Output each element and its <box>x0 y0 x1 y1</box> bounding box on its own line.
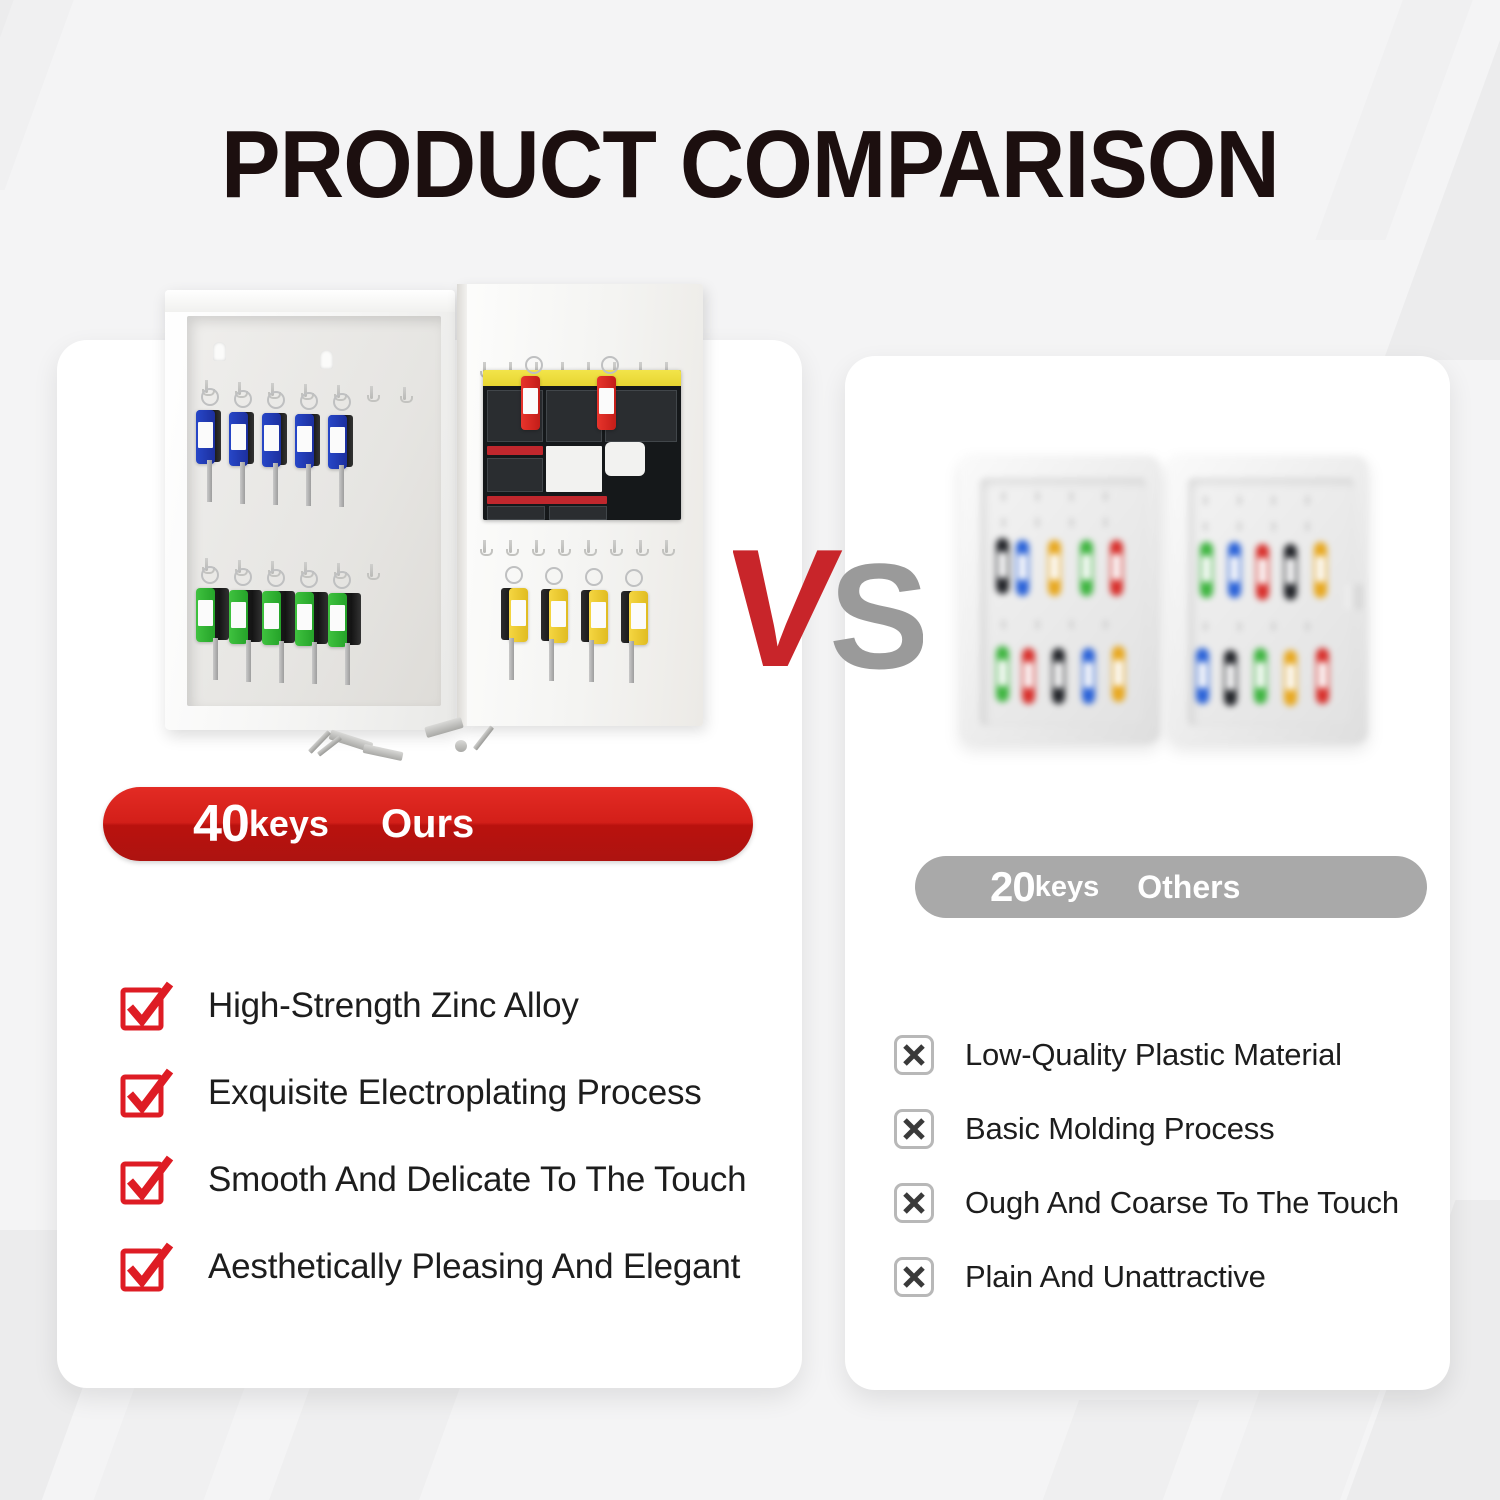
list-item: High-Strength Zinc Alloy <box>118 962 798 1049</box>
check-icon <box>118 1065 174 1121</box>
x-icon <box>893 1034 935 1076</box>
ours-key-unit: keys <box>249 803 329 845</box>
ours-feature-list: High-Strength Zinc Alloy Exquisite Elect… <box>118 962 798 1310</box>
others-label: Others <box>1137 869 1240 906</box>
others-key-unit: keys <box>1035 871 1100 904</box>
page-title: PRODUCT COMPARISON <box>53 110 1448 220</box>
list-item-label: Plain And Unattractive <box>965 1259 1266 1295</box>
list-item: Ough And Coarse To The Touch <box>893 1166 1463 1240</box>
list-item-label: Aesthetically Pleasing And Elegant <box>208 1247 740 1287</box>
others-badge: 20 keys Others <box>915 856 1427 918</box>
list-item: Plain And Unattractive <box>893 1240 1463 1314</box>
check-icon <box>118 978 174 1034</box>
others-feature-list: Low-Quality Plastic Material Basic Moldi… <box>893 1018 1463 1314</box>
list-item-label: Exquisite Electroplating Process <box>208 1073 702 1113</box>
ours-key-count: 40 <box>193 794 249 854</box>
ours-badge: 40 keys Ours <box>103 787 753 861</box>
list-item: Aesthetically Pleasing And Elegant <box>118 1223 798 1310</box>
vs-v-letter: V <box>733 516 847 686</box>
vs-badge: S V <box>733 516 923 686</box>
others-key-count: 20 <box>990 863 1035 911</box>
list-item: Smooth And Delicate To The Touch <box>118 1136 798 1223</box>
list-item-label: High-Strength Zinc Alloy <box>208 986 579 1026</box>
others-product-image <box>930 420 1400 780</box>
vs-s-letter: S <box>829 532 923 686</box>
list-item-label: Low-Quality Plastic Material <box>965 1037 1342 1073</box>
x-icon <box>893 1182 935 1224</box>
list-item: Exquisite Electroplating Process <box>118 1049 798 1136</box>
list-item: Low-Quality Plastic Material <box>893 1018 1463 1092</box>
list-item: Basic Molding Process <box>893 1092 1463 1166</box>
x-icon <box>893 1256 935 1298</box>
check-icon <box>118 1152 174 1208</box>
ours-label: Ours <box>381 802 474 847</box>
x-icon <box>893 1108 935 1150</box>
list-item-label: Basic Molding Process <box>965 1111 1274 1147</box>
list-item-label: Smooth And Delicate To The Touch <box>208 1160 746 1200</box>
list-item-label: Ough And Coarse To The Touch <box>965 1185 1399 1221</box>
ours-product-image <box>105 270 705 770</box>
check-icon <box>118 1239 174 1295</box>
